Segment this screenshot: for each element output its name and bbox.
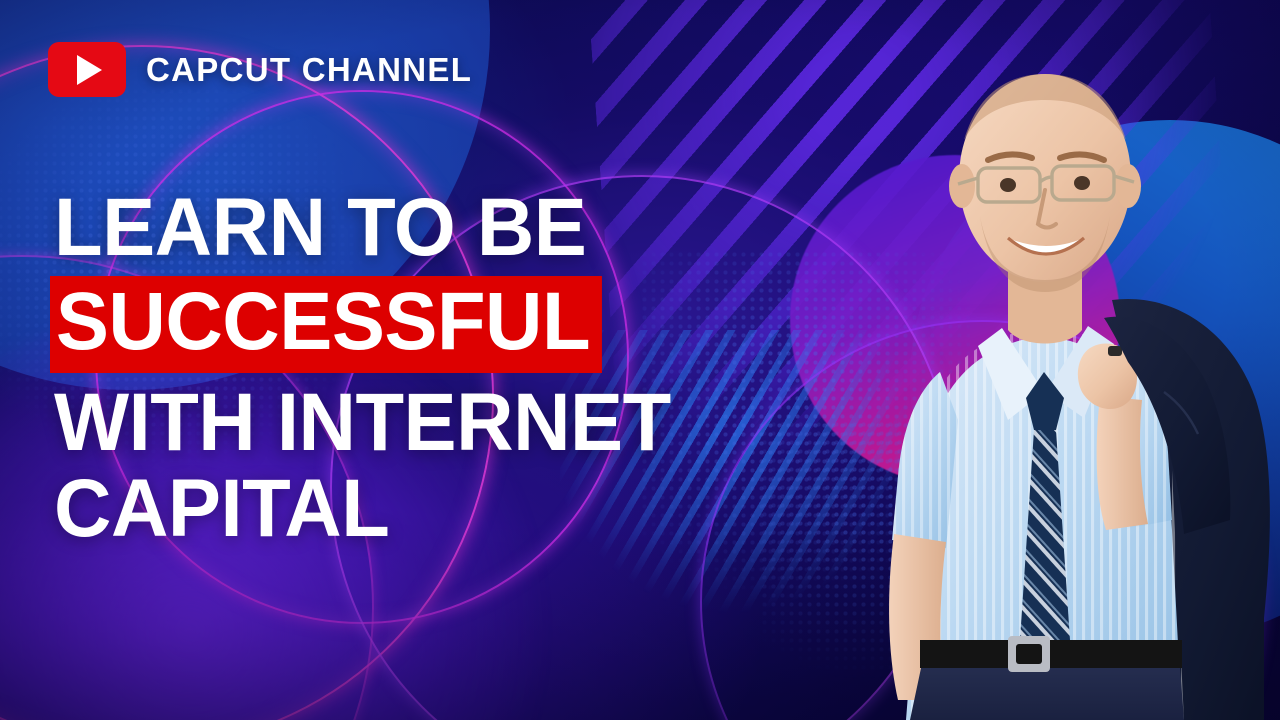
ring-accessory — [1108, 346, 1122, 356]
headline-line-4: CAPITAL — [54, 469, 671, 549]
eye-left — [1000, 178, 1016, 192]
channel-name-label: CAPCUT CHANNEL — [146, 51, 472, 89]
headline-block: LEARN TO BE SUCCESSFUL WITH INTERNET CAP… — [54, 188, 690, 549]
belt — [920, 640, 1182, 668]
belt-buckle-inner — [1016, 644, 1042, 664]
eye-right — [1074, 176, 1090, 190]
headline-line-2-highlighted: SUCCESSFUL — [50, 276, 602, 372]
youtube-play-icon[interactable] — [48, 42, 126, 97]
headline-line-1: LEARN TO BE — [54, 188, 671, 268]
headline-line-3: WITH INTERNET — [54, 383, 671, 463]
channel-badge[interactable]: CAPCUT CHANNEL — [48, 42, 472, 97]
youtube-thumbnail: CAPCUT CHANNEL LEARN TO BE SUCCESSFUL WI… — [0, 0, 1280, 720]
ear-right — [1115, 164, 1141, 208]
presenter-photo — [812, 0, 1280, 720]
forearm-right — [1097, 396, 1148, 530]
ear-left — [949, 164, 975, 208]
play-triangle-icon — [77, 55, 102, 85]
